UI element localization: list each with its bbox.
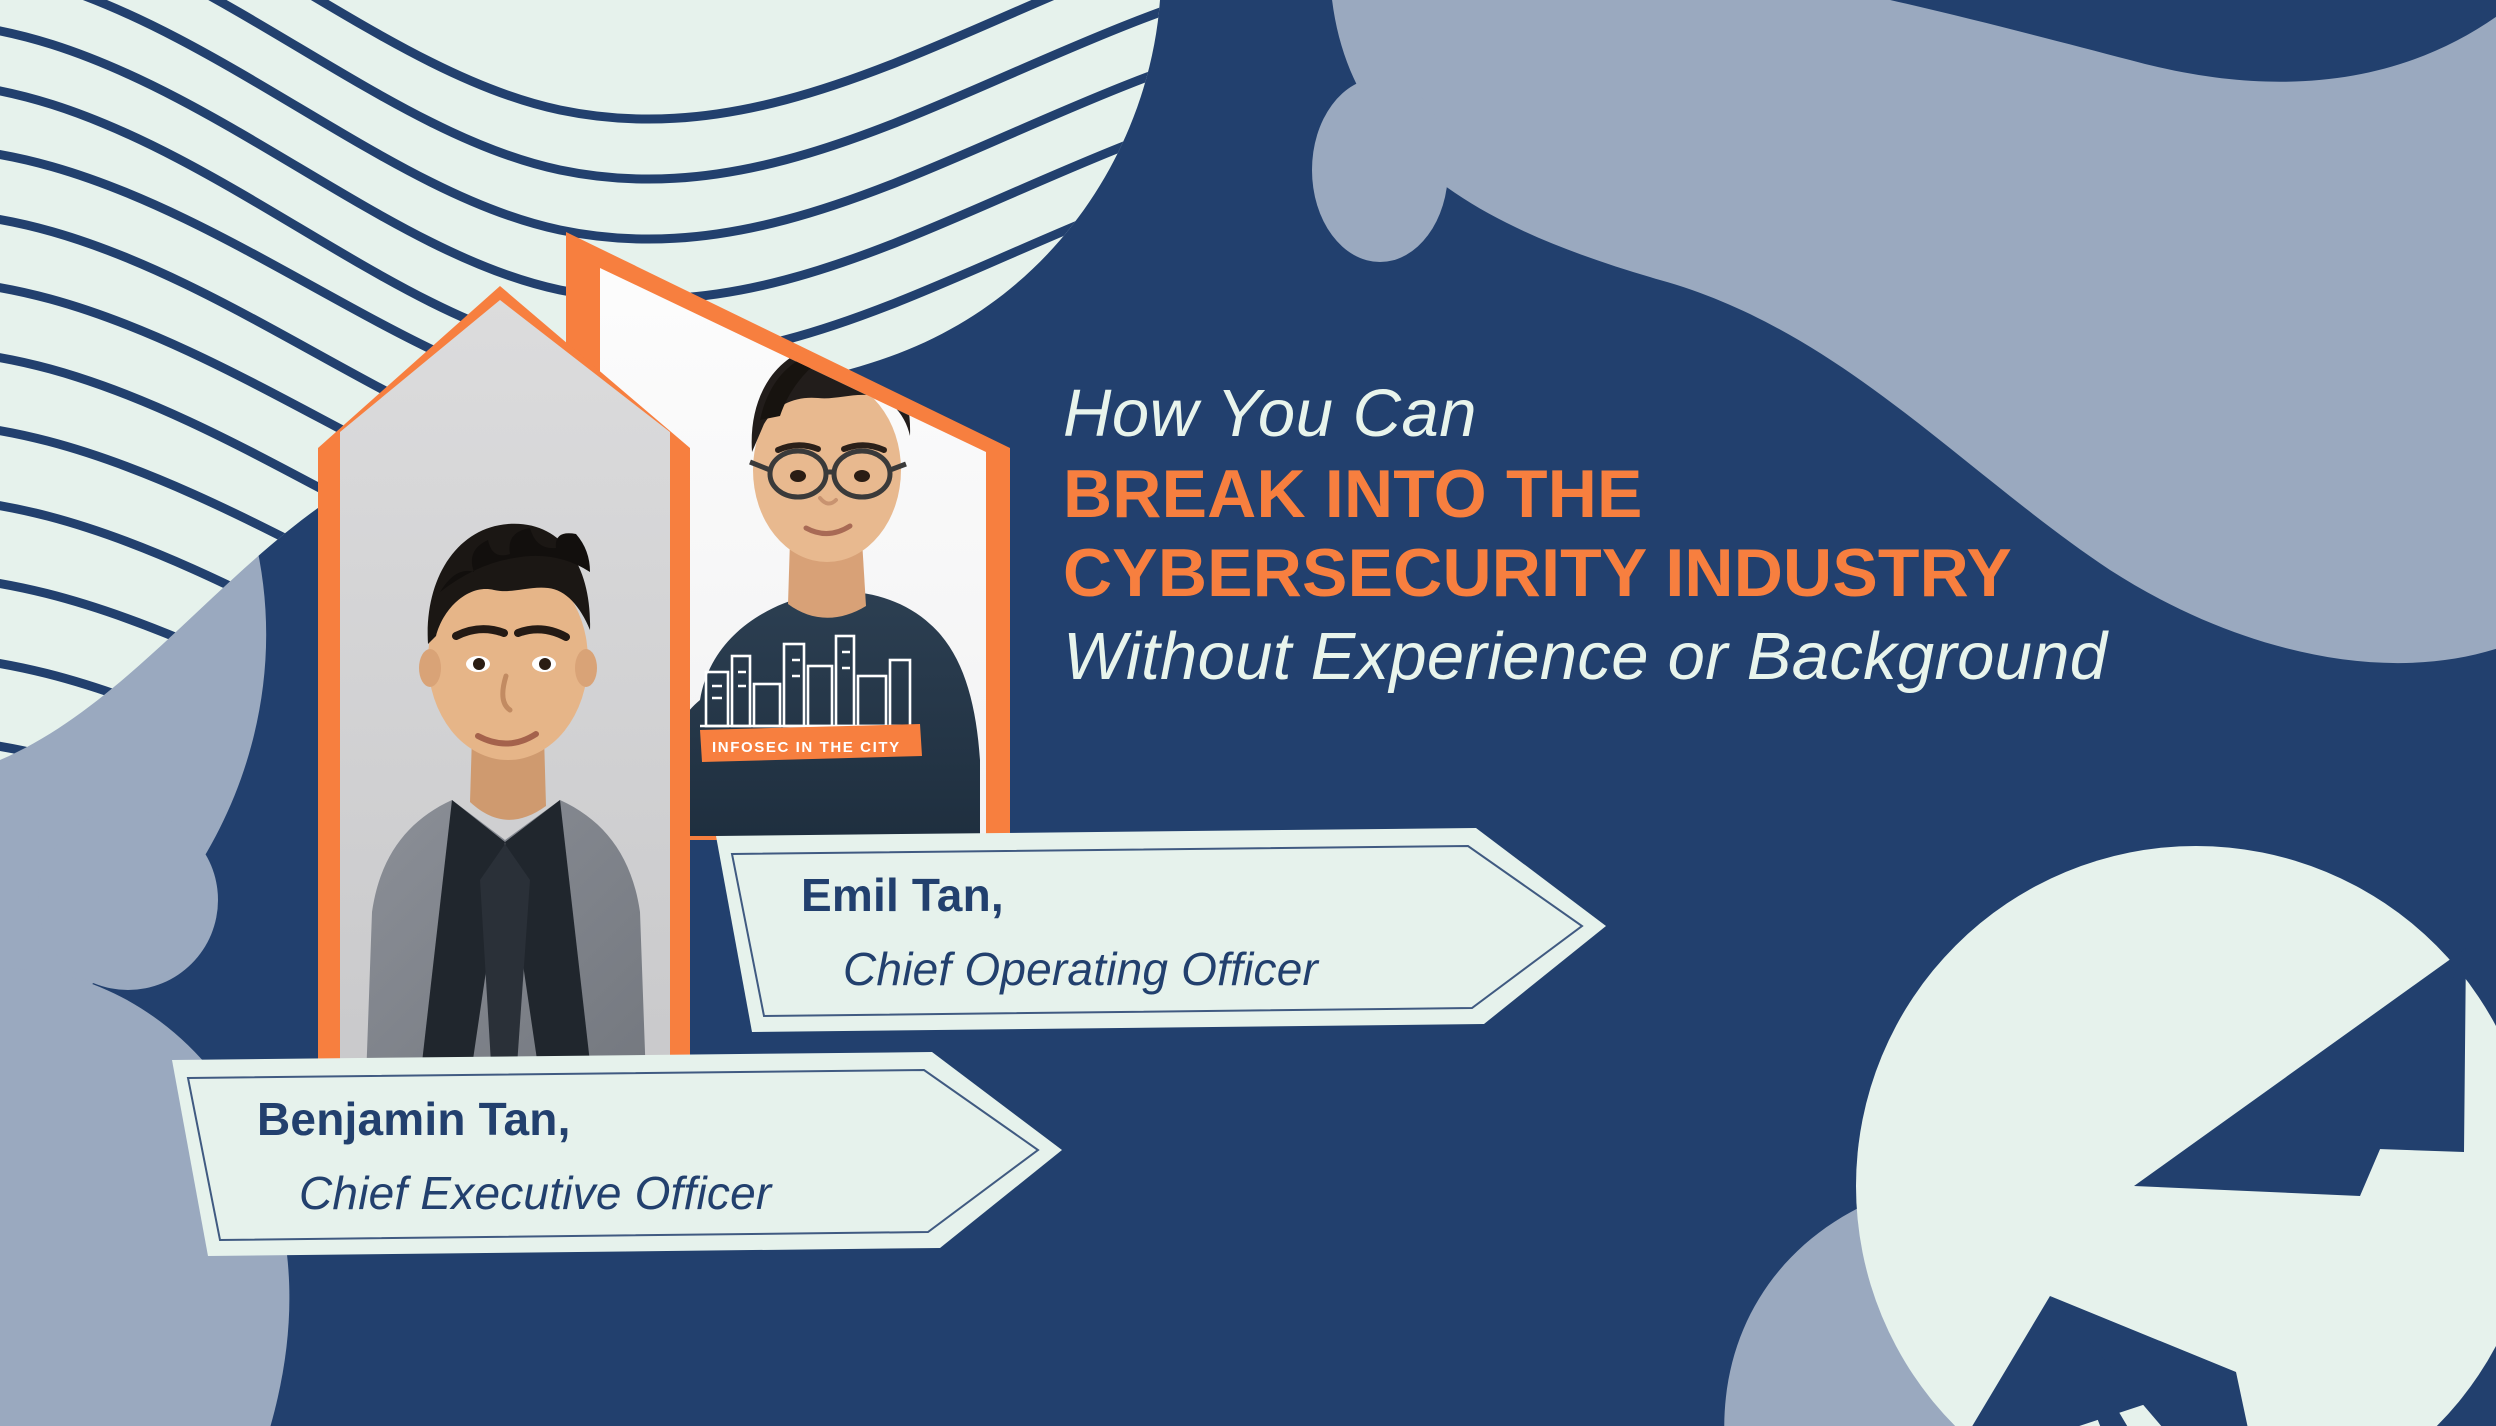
speaker-role-benjamin: Chief Executive Officer [299,1166,771,1220]
headline-block: How You Can BREAK INTO THE CYBERSECURITY… [1063,380,2443,690]
headline-line-3: CYBERSECURITY INDUSTRY [1063,539,2443,618]
banner-shape-benjamin [172,1052,1062,1256]
speaker-banner-benjamin: Benjamin Tan, Chief Executive Officer [172,1052,1062,1256]
speaker-banner-emil: Emil Tan, Chief Operating Officer [716,828,1606,1032]
banner-shape-emil [716,828,1606,1032]
poster-canvas: INFOSEC IN THE CITY [0,0,2496,1426]
speaker-role-emil: Chief Operating Officer [843,942,1318,996]
headline-line-2: BREAK INTO THE [1063,460,2443,539]
headline-line-1: How You Can [1063,380,2443,460]
headline-line-4: Without Experience or Background [1063,618,2443,690]
speaker-name-emil: Emil Tan, [801,868,1004,922]
speaker-name-benjamin: Benjamin Tan, [257,1092,571,1146]
